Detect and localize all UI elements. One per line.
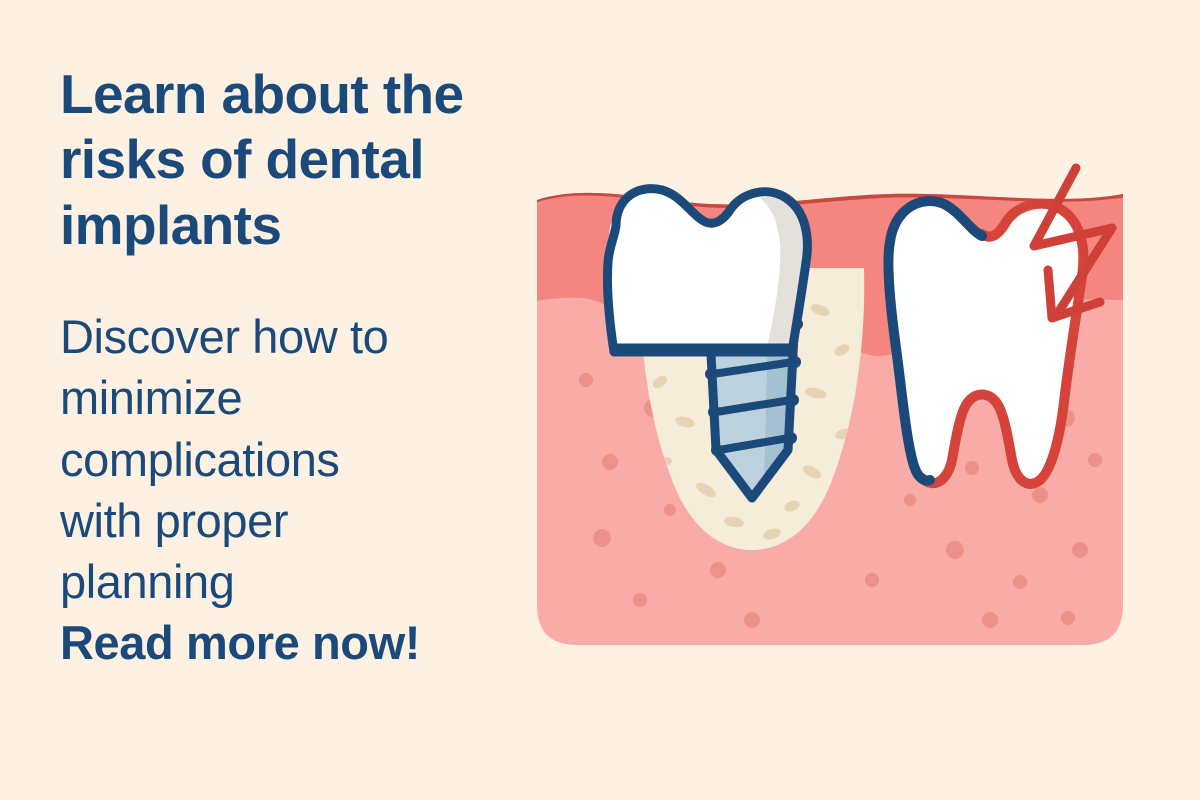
subhead-block: Discover how to minimize complications w… bbox=[60, 306, 570, 673]
page-title: Learn about the risks of dental implants bbox=[60, 62, 570, 258]
cta-text[interactable]: Read more now! bbox=[60, 612, 570, 673]
dental-implant-promo-banner: Learn about the risks of dental implants… bbox=[0, 0, 1200, 800]
text-column: Learn about the risks of dental implants… bbox=[60, 62, 570, 673]
subhead-text: Discover how to minimize complications w… bbox=[60, 306, 570, 611]
dental-illustration bbox=[520, 150, 1170, 670]
